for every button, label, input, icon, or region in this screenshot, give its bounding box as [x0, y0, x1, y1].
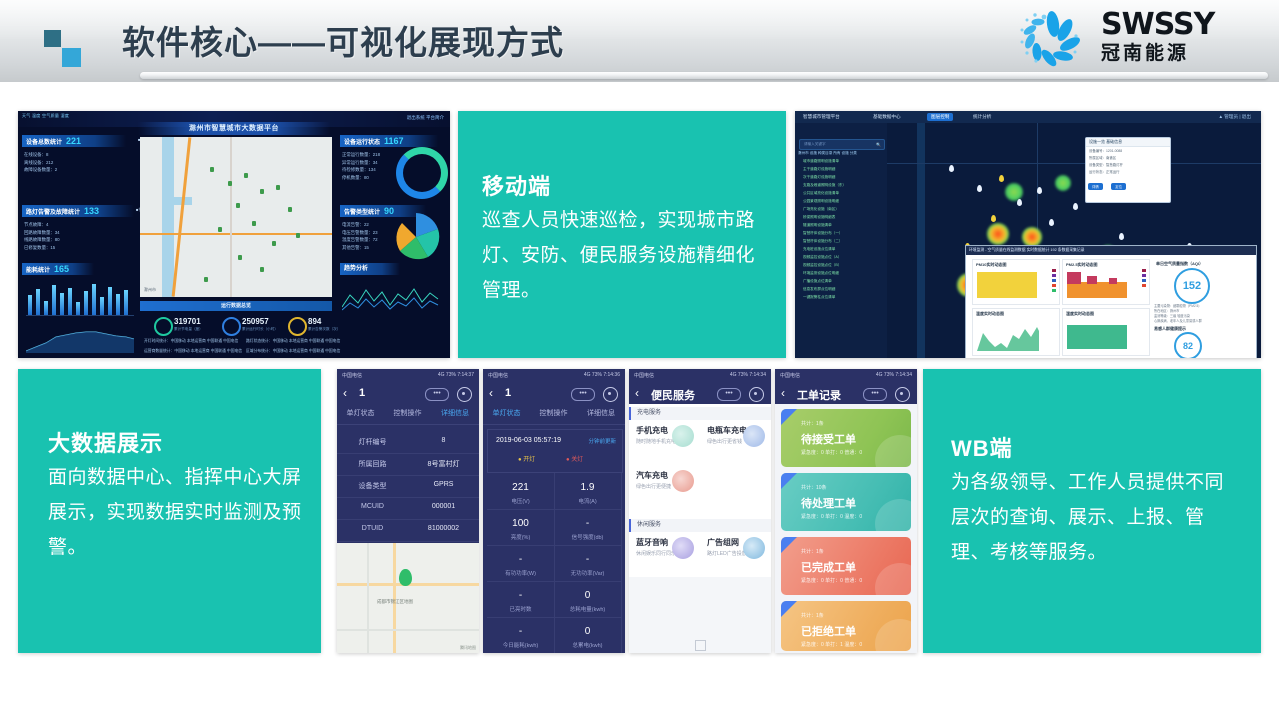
dashboard-footnote-3: 运营商数量统计：中国移动 本地运营商 中国联通 中国电信 — [144, 349, 242, 354]
phone2-tabs: 单灯状态 控制操作 详细信息 — [483, 404, 625, 425]
map-road-h — [887, 163, 1261, 164]
status-right: 4G 73% 7:14:37 — [438, 372, 474, 378]
workorder-card-rejected[interactable]: 共计：1条 已拒绝工单 紧急度：0 单打：1 温度：0 — [781, 601, 911, 651]
block-mobile: 移动端 巡查人员快速巡检，实现城市路灯、安防、便民服务设施精细化管理。 — [458, 111, 786, 358]
phone4-navbar: ‹ 工单记录 ••• — [775, 382, 917, 404]
phone1-map-label: 成都市锦江区地图 — [377, 599, 413, 605]
gis-tree-item[interactable]: 公共区域亮化设施清单 — [803, 191, 839, 196]
block-bigdata: 大数据展示 面向数据中心、指挥中心大屏展示，实现数据实时监测及预警。 — [18, 369, 321, 653]
car-charge-icon — [672, 470, 694, 492]
screenshot-phone-lamp-detail: 中国电信 4G 73% 7:14:37 ‹ 1 ••• 单灯状态 控制操作 详细… — [337, 369, 479, 653]
panel-devices-rows: 在线设备：8 离线设备：212 故障设备数量：2 — [24, 151, 57, 174]
panel-header-devices: 设备总数统计221 — [22, 135, 126, 147]
gauge-value-1: 319701 — [174, 317, 201, 326]
gis-popup-detail-button[interactable]: 详情 — [1088, 183, 1103, 190]
phone2-state-off: ● 关灯 — [566, 454, 583, 463]
block-bigdata-body: 面向数据中心、指挥中心大屏展示，实现数据实时监测及预警。 — [48, 460, 302, 565]
gis-search-placeholder: 请输入关键字 — [804, 142, 826, 147]
gis-tree-item[interactable]: 视频监控设施点位（B） — [803, 263, 841, 268]
workorder-card-pending-handle[interactable]: 共计：10条 待处理工单 紧急度：0 单打：0 温度：0 — [781, 473, 911, 531]
carrier-label: 中国电信 — [634, 372, 654, 379]
section-header-charging: 充电服务 — [629, 407, 771, 420]
phone1-statusbar: 中国电信 4G 73% 7:14:37 — [337, 369, 479, 382]
metric-cell: -已亮时数 — [487, 581, 555, 618]
service-item-ebike-charge[interactable]: 电瓶车充电 绿色出行更省钱 — [700, 420, 771, 465]
panel-header-energy: 能耗统计165 — [22, 263, 94, 275]
map-marker[interactable] — [977, 185, 982, 192]
map-marker[interactable] — [991, 215, 996, 222]
phone2-title: 1 — [505, 387, 511, 399]
screenshot-phone-workorders: 中国电信 4G 73% 7:14:34 ‹ 工单记录 ••• 共计：1条 待接受… — [775, 369, 917, 653]
map-marker[interactable] — [1049, 219, 1054, 226]
gis-tree-item[interactable]: 支路及巷道照明设施（东） — [803, 183, 846, 188]
gis-popup-locate-button[interactable]: 定位 — [1111, 183, 1126, 190]
gis-tree-item[interactable]: 桥梁照明设施明细表 — [803, 215, 835, 220]
gis-tree-item[interactable]: 广场亮化设施（南区） — [803, 207, 839, 212]
phone4-title: 工单记录 — [797, 387, 841, 403]
phone3-scroll-marker — [695, 640, 706, 651]
gauge-value-3: 894 — [308, 317, 321, 326]
target-icon[interactable] — [895, 387, 910, 402]
gis-tree-item[interactable]: 广播设施点位清单 — [803, 279, 832, 284]
block-web: WB端 为各级领导、工作人员提供不同层次的查询、展示、上报、管理、考核等服务。 — [923, 369, 1261, 653]
more-dots-icon[interactable]: ••• — [571, 388, 595, 401]
phone3-title: 便民服务 — [651, 387, 695, 403]
aqi-note: 心肺疾病、老年人及儿童易感人群 — [1154, 319, 1202, 324]
slide-root: 软件核心——可视化展现方式 — [0, 0, 1279, 720]
back-chevron-icon[interactable]: ‹ — [781, 386, 785, 400]
gis-popup-row: 所属区域：南谯区 — [1086, 154, 1170, 161]
gis-feature-popup[interactable]: 设施一览 基础信息 设备编号：1201-0088 所属区域：南谯区 设备类型：智… — [1085, 137, 1171, 203]
gauge-caption-1: 累计节电量（度） — [174, 327, 203, 332]
back-chevron-icon[interactable]: ‹ — [343, 386, 347, 400]
phone1-tabs: 单灯状态 控制操作 详细信息 — [337, 404, 479, 425]
phone3-navbar: ‹ 便民服务 ••• — [629, 382, 771, 404]
ad-screen-icon — [743, 537, 765, 559]
tab-detail[interactable]: 详细信息 — [577, 408, 625, 418]
aqi-value-primary: 152 — [1174, 268, 1210, 304]
block-web-title: WB端 — [951, 431, 1013, 463]
dashboard-band-title: 运行数据总览 — [140, 301, 332, 311]
section-header-leisure: 休闲服务 — [629, 519, 771, 532]
table-row: 所属回路8号富村灯 — [337, 453, 479, 476]
gis-tree-item[interactable]: 主干道路灯设施明细 — [803, 167, 835, 172]
phone2-state-on: ● 开灯 — [518, 454, 535, 463]
gis-tab-layers[interactable]: 图层控制 — [927, 113, 953, 121]
service-item-car-charge[interactable]: 汽车充电 绿色出行更便捷 — [629, 465, 700, 510]
panel-header-trend: 趋势分析 — [340, 263, 400, 275]
line-chart-trend — [342, 281, 442, 313]
logo-subtitle: 冠南能源 — [1101, 42, 1253, 66]
gauge-caption-2: 累计运行时长（小时） — [242, 327, 278, 332]
gis-tree-item[interactable]: 智慧杆体设施分布（一） — [803, 231, 843, 236]
metric-cell: -有功功率(W) — [487, 545, 555, 582]
carrier-label: 中国电信 — [488, 372, 508, 379]
corner-tag-icon — [781, 537, 797, 553]
map-river — [917, 123, 925, 358]
metric-cell: -无功功率(Var) — [554, 545, 622, 582]
corner-tag-icon — [781, 409, 797, 425]
block-mobile-body: 巡查人员快速巡检，实现城市路灯、安防、便民服务设施精细化管理。 — [482, 203, 764, 308]
gauge-ring-3 — [288, 317, 307, 336]
gis-tree-item[interactable]: 视频监控设施点位（A） — [803, 255, 841, 260]
phone1-map-credit: 腾讯地图 — [460, 645, 476, 651]
workorder-card-pending-accept[interactable]: 共计：1条 待接受工单 紧急度：0 单打：0 普通：0 — [781, 409, 911, 467]
phone2-navbar: ‹ 1 ••• — [483, 382, 625, 404]
phone2-refresh-label[interactable]: 分钟前更新 — [588, 437, 616, 445]
phone2-timestamp: 2019-06-03 05:57:19 — [496, 437, 561, 444]
screenshot-phone-lamp-status: 中国电信 4G 73% 7:14:36 ‹ 1 ••• 单灯状态 控制操作 详细… — [483, 369, 625, 653]
target-icon[interactable] — [749, 387, 764, 402]
phone1-navbar: ‹ 1 ••• — [337, 382, 479, 404]
table-row: MCUID000001 — [337, 497, 479, 520]
map-marker[interactable] — [1037, 187, 1042, 194]
back-chevron-icon[interactable]: ‹ — [489, 386, 493, 400]
status-right: 4G 73% 7:14:36 — [584, 372, 620, 378]
map-pin-icon — [399, 569, 412, 586]
block-web-body: 为各级领导、工作人员提供不同层次的查询、展示、上报、管理、考核等服务。 — [951, 465, 1241, 570]
panel-runstate-rows: 正常运行数量：218 异常运行数量：34 待检修数量：134 停机数量：80 — [342, 151, 380, 181]
corner-tag-icon — [781, 601, 797, 617]
gis-popup-row: 设备类型：智慧路灯杆 — [1086, 161, 1170, 168]
phone1-title: 1 — [359, 387, 365, 399]
workorder-card-completed[interactable]: 共计：1条 已完成工单 紧急度：0 单打：0 普通：0 — [781, 537, 911, 595]
aqi-chart-pm25: PM2.5实时动态图 — [1062, 259, 1150, 305]
panel-alarms-rows: 节点故障：4 回路故障数量：34 线路故障数量：80 已修复数量：15 — [24, 221, 60, 251]
bar-chart-energy — [26, 281, 134, 315]
dashboard-title: 滁州市智慧城市大数据平台 — [138, 122, 330, 135]
gis-search-input[interactable]: 请输入关键字 🔍 — [799, 139, 885, 150]
block-mobile-title: 移动端 — [482, 169, 551, 201]
phone4-statusbar: 中国电信 4G 73% 7:14:34 — [775, 369, 917, 382]
bluetooth-speaker-icon — [672, 537, 694, 559]
aqi-chart-temperature: 温度实时动态图 — [972, 308, 1060, 356]
search-icon[interactable]: 🔍 — [876, 142, 881, 147]
ebike-charge-icon — [743, 425, 765, 447]
more-dots-icon[interactable]: ••• — [717, 388, 741, 401]
tab-detail[interactable]: 详细信息 — [431, 408, 479, 418]
service-item-bluetooth-speaker[interactable]: 蓝牙音响 休闲娱乐同行同乐 — [629, 532, 700, 577]
metric-cell: -信号强度(db) — [554, 509, 622, 546]
carrier-label: 中国电信 — [342, 372, 362, 379]
slide-header: 软件核心——可视化展现方式 — [0, 0, 1279, 82]
aqi-window-titlebar: 环境监测 - 空气质量在线监测数据 实时数据统计 192 条数据采集记录 — [966, 246, 1256, 255]
tab-control[interactable]: 控制操作 — [530, 408, 577, 418]
gis-tree-item[interactable]: 隧道照明设施清单 — [803, 223, 832, 228]
pie-chart-alarmtype — [390, 211, 444, 261]
dashboard-footnote-2: 路灯状态统计：中国移动 本地运营商 中国联通 中国电信 — [246, 339, 340, 344]
heat-blob — [1022, 227, 1042, 247]
screenshot-phone-services: 中国电信 4G 73% 7:14:34 ‹ 便民服务 ••• 充电服务 手机充电… — [629, 369, 771, 653]
gis-user-menu[interactable]: ▲ 管理员 | 退出 — [1214, 113, 1255, 121]
gauge-value-2: 250957 — [242, 317, 269, 326]
table-row: DTUID81000002 — [337, 519, 479, 542]
donut-chart-runstate — [396, 147, 448, 199]
gis-tab-analysis[interactable]: 统计分析 — [969, 113, 995, 121]
aqi-chart-pm10: PM10实时动态图 — [972, 259, 1060, 305]
gis-tab-basedata[interactable]: 基础数据中心 — [869, 113, 905, 121]
service-item-phone-charge[interactable]: 手机充电 随时随地手机充电 — [629, 420, 700, 465]
dashboard-footnote-4: 区域分布统计：中国移动 本地运营商 中国联通 中国电信 — [246, 349, 340, 354]
metric-cell: 221电压(V) — [487, 473, 555, 510]
more-dots-icon[interactable]: ••• — [863, 388, 887, 401]
aqi-value-secondary: 82 — [1174, 332, 1202, 358]
area-chart-trend — [26, 323, 134, 353]
dashboard-map[interactable]: 滁州市 — [140, 137, 332, 297]
gis-tree-item[interactable]: 次干道路灯设施明细 — [803, 175, 835, 180]
page-title: 软件核心——可视化展现方式 — [122, 16, 564, 64]
gis-tree-item[interactable]: 公园景观照明设施明细 — [803, 199, 839, 204]
panel-header-runstate: 设备运行状态1167 — [340, 135, 438, 147]
gis-tree-item[interactable]: 信息发布屏点位明细 — [803, 287, 835, 292]
map-marker[interactable] — [949, 165, 954, 172]
panel-alarmtype-rows: 电流告警：22 电压告警数量：23 温度告警数量：72 其他告警：15 — [342, 221, 378, 251]
gauge-ring-2 — [222, 317, 241, 336]
tab-lamp-status[interactable]: 单灯状态 — [337, 408, 384, 418]
dashboard-weather-info: 天气 温度 空气质量 湿度 — [22, 113, 69, 119]
gis-popup-row: 设备编号：1201-0088 — [1086, 147, 1170, 154]
gis-tree-item[interactable]: 充电桩设施点位清单 — [803, 247, 835, 252]
metric-cell: 1.9电流(A) — [554, 473, 622, 510]
table-row: 设备类型GPRS — [337, 475, 479, 498]
phone3-statusbar: 中国电信 4G 73% 7:14:34 — [629, 369, 771, 382]
tab-control[interactable]: 控制操作 — [384, 408, 431, 418]
dashboard-footnote-1: 开灯时间统计：中国移动 本地运营商 中国联通 中国电信 — [144, 339, 238, 344]
gis-tree-item[interactable]: 智慧杆体设施分布（二） — [803, 239, 843, 244]
map-scale-label: 滁州市 — [144, 287, 156, 293]
gis-topbar: 智慧城市管理平台 基础数据中心 图层控制 统计分析 ▲ 管理员 | 退出 — [795, 111, 1261, 123]
logo-wordmark: SWSSY — [1101, 9, 1253, 41]
screenshot-gis-platform: 智慧城市管理平台 基础数据中心 图层控制 统计分析 ▲ 管理员 | 退出 请输入… — [795, 111, 1261, 358]
metric-cell: 0总耗电量(kwh) — [554, 581, 622, 618]
logo-text: SWSSY 冠南能源 — [1101, 9, 1253, 66]
screenshot-bigdata-dashboard: 天气 温度 空气质量 湿度 退出系统 平台简介 滁州市智慧城市大数据平台 设备总… — [18, 111, 450, 358]
gis-tree-item[interactable]: 环境监测设施点位明细 — [803, 271, 839, 276]
gis-layer-tree-panel: 请输入关键字 🔍 滁州市 设施 种类目录 所有 设施 分类 城市道路照明设施清单… — [795, 123, 887, 358]
carrier-label: 中国电信 — [780, 372, 800, 379]
gis-popup-title: 设施一览 基础信息 — [1086, 138, 1170, 147]
metric-cell: 0总累电(kwh) — [554, 617, 622, 653]
map-marker[interactable] — [1073, 203, 1078, 210]
back-chevron-icon[interactable]: ‹ — [635, 386, 639, 400]
status-right: 4G 73% 7:14:34 — [730, 372, 766, 378]
service-item-ad-network[interactable]: 广告组网 路灯LED广告投放 — [700, 532, 771, 577]
dashboard-topbar-actions: 退出系统 平台简介 — [407, 115, 444, 121]
phone1-map[interactable]: 成都市锦江区地图 腾讯地图 — [337, 543, 479, 653]
metric-cell: 100亮度(%) — [487, 509, 555, 546]
block-bigdata-title: 大数据展示 — [48, 426, 163, 458]
corner-tag-icon — [781, 473, 797, 489]
status-right: 4G 73% 7:14:34 — [876, 372, 912, 378]
gis-tree-item[interactable]: 城市道路照明设施清单 — [803, 159, 839, 164]
droplet-ring-logo-icon — [1005, 8, 1095, 72]
map-marker[interactable] — [1119, 233, 1124, 240]
target-icon[interactable] — [457, 387, 472, 402]
gis-tab-platform[interactable]: 智慧城市管理平台 — [799, 113, 844, 121]
gis-tree-item[interactable]: 一键报警柱点位清单 — [803, 295, 835, 300]
gis-popup-row: 运行状态：正常运行 — [1086, 168, 1170, 175]
gauge-caption-3: 累计告警次数（次） — [308, 327, 340, 332]
table-row: 灯杆编号8 — [337, 431, 479, 454]
heat-blob — [987, 223, 1009, 245]
tab-lamp-status[interactable]: 单灯状态 — [483, 408, 530, 418]
gauge-ring-1 — [154, 317, 173, 336]
map-marker[interactable] — [999, 175, 1004, 182]
phone2-timestamp-card: 2019-06-03 05:57:19 分钟前更新 ● 开灯 ● 关灯 — [487, 429, 623, 473]
map-marker[interactable] — [1017, 199, 1022, 206]
title-bullet-squares — [44, 30, 84, 66]
phone2-statusbar: 中国电信 4G 73% 7:14:36 — [483, 369, 625, 382]
metric-cell: -今日能耗(kwh) — [487, 617, 555, 653]
target-icon[interactable] — [603, 387, 618, 402]
heat-blob — [1055, 175, 1071, 191]
gis-tree-root[interactable]: 滁州市 设施 种类目录 所有 设施 分类 — [798, 151, 857, 156]
aqi-chart-humidity: 湿度实时动态图 — [1062, 308, 1150, 356]
gis-map-canvas[interactable]: 设施一览 基础信息 设备编号：1201-0088 所属区域：南谯区 设备类型：智… — [887, 123, 1261, 358]
brand-logo: SWSSY 冠南能源 — [1005, 6, 1257, 74]
square-dark-icon — [44, 30, 61, 47]
more-dots-icon[interactable]: ••• — [425, 388, 449, 401]
aqi-window[interactable]: 环境监测 - 空气质量在线监测数据 实时数据统计 192 条数据采集记录 PM1… — [965, 245, 1257, 358]
phone-charge-icon — [672, 425, 694, 447]
panel-header-alarms: 路灯告警及故障统计133 — [22, 205, 134, 217]
square-light-icon — [62, 48, 81, 67]
